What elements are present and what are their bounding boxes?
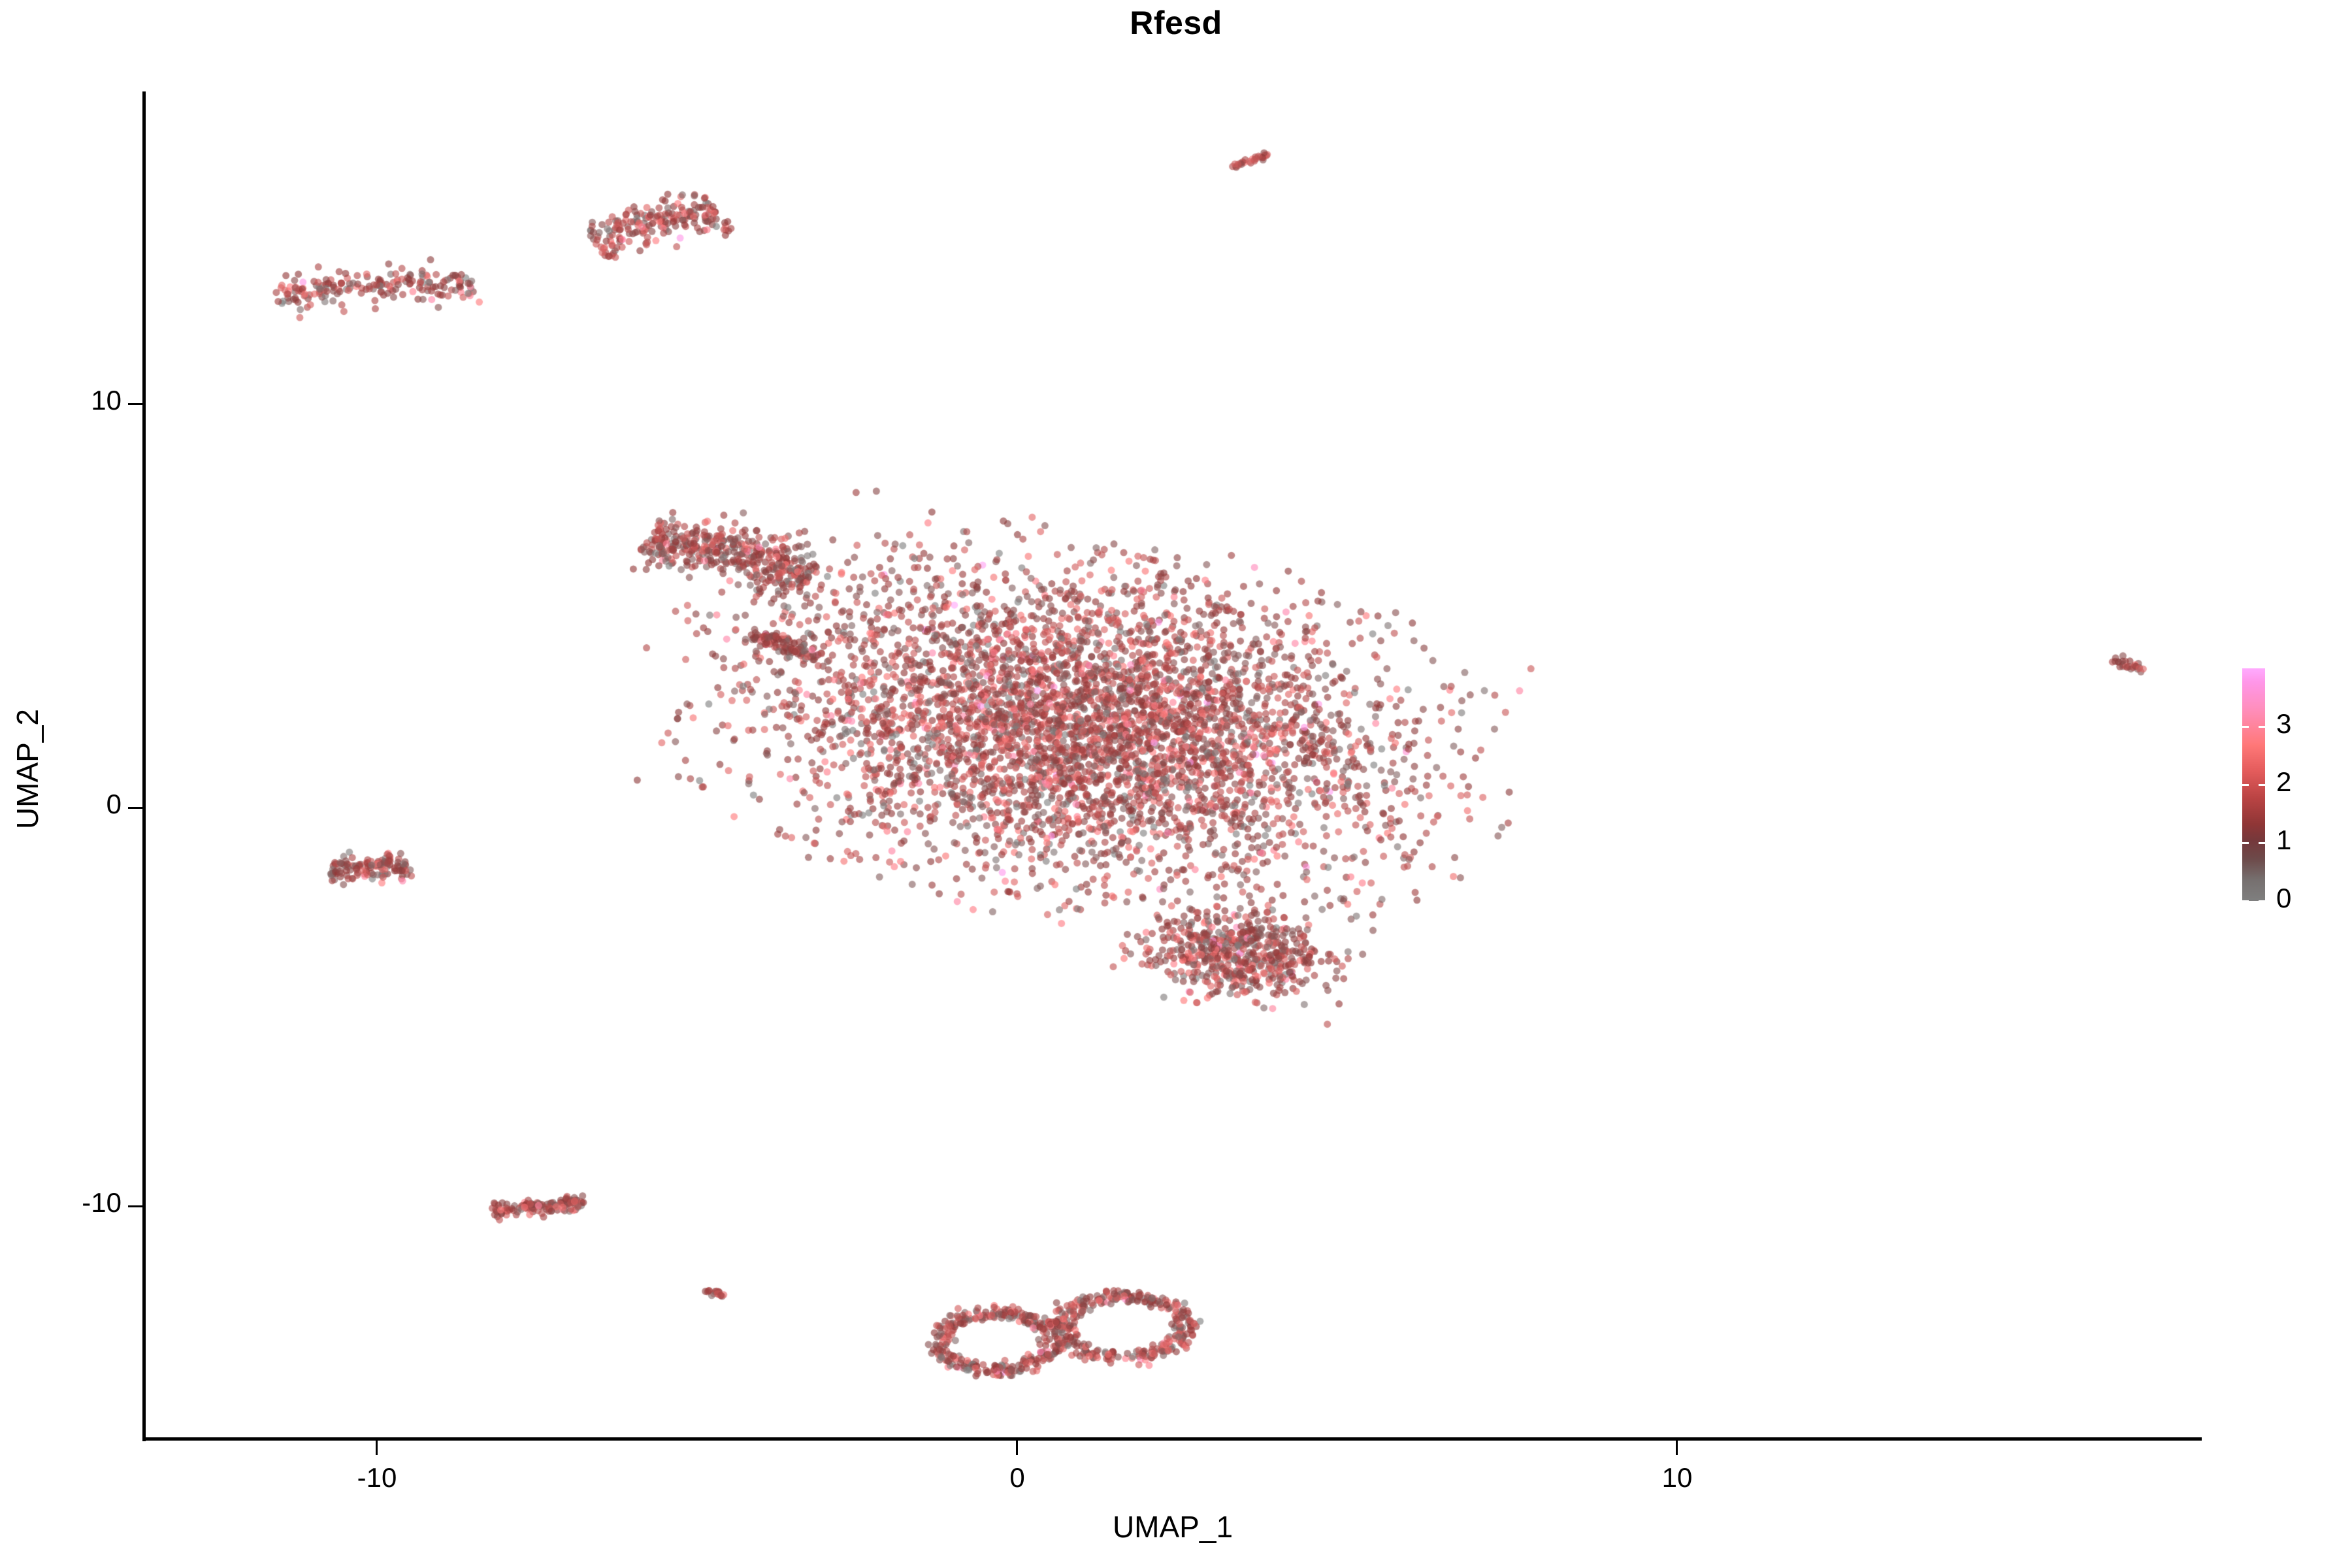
colorbar-label-1: 1 [2276, 825, 2328, 856]
colorbar-tick-left-3 [2242, 726, 2249, 728]
x-tick-label-1: 0 [952, 1462, 1083, 1494]
colorbar-tick-left-0 [2242, 900, 2249, 902]
colorbar-tick-left-1 [2242, 842, 2249, 844]
y-axis-line [142, 91, 146, 1441]
colorbar-tick-right-1 [2259, 842, 2265, 844]
x-axis-line [142, 1437, 2202, 1441]
scatter-points-canvas [144, 91, 2202, 1439]
y-tick-label-2: -10 [24, 1187, 122, 1218]
colorbar-label-2: 2 [2276, 766, 2328, 798]
colorbar-label-3: 3 [2276, 708, 2328, 740]
colorbar-tick-right-2 [2259, 784, 2265, 786]
colorbar-tick-right-3 [2259, 726, 2265, 728]
colorbar-tick-right-0 [2259, 900, 2265, 902]
x-axis-label: UMAP_1 [0, 1509, 2345, 1544]
y-tick-mark-0 [128, 403, 142, 405]
x-tick-label-2: 10 [1612, 1462, 1742, 1494]
plot-root: Rfesd -10 0 10 10 0 -10 UMAP_1 UMAP_2 3 … [0, 0, 2352, 1568]
x-tick-mark-1 [1016, 1441, 1018, 1455]
y-axis-label: UMAP_2 [10, 573, 45, 965]
plot-panel [144, 91, 2202, 1439]
y-tick-label-0: 10 [24, 385, 122, 416]
colorbar-tick-left-2 [2242, 784, 2249, 786]
x-tick-label-0: -10 [312, 1462, 442, 1494]
y-tick-mark-1 [128, 807, 142, 809]
page-title: Rfesd [0, 5, 2352, 41]
x-tick-mark-2 [1676, 1441, 1678, 1455]
colorbar-label-0: 0 [2276, 883, 2328, 914]
colorbar-legend: 3 2 1 0 [2234, 660, 2345, 921]
x-tick-mark-0 [376, 1441, 378, 1455]
y-tick-mark-2 [128, 1205, 142, 1207]
